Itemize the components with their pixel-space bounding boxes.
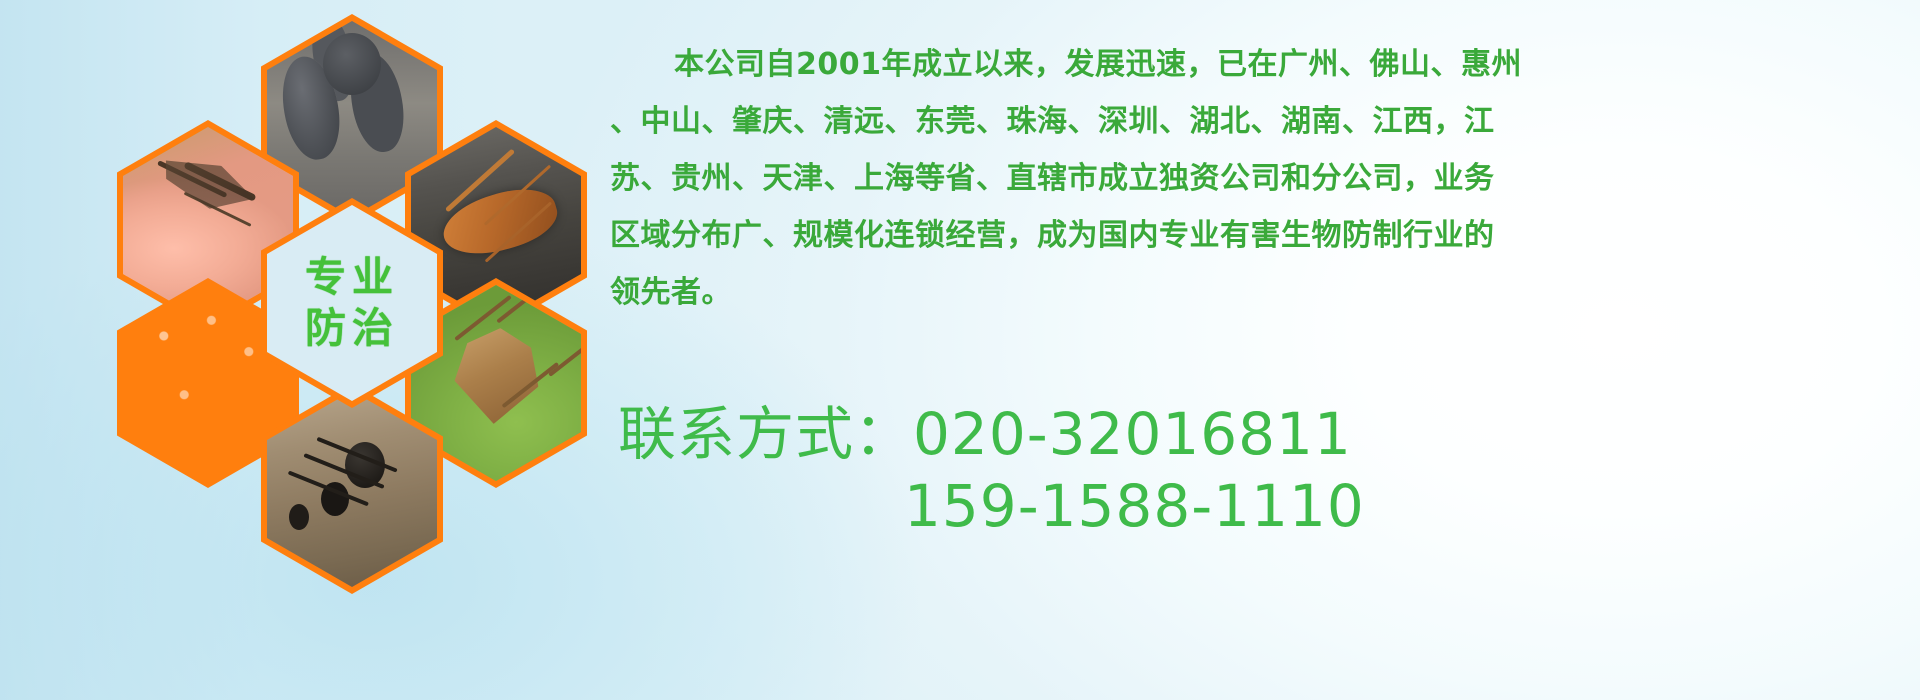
intro-line-2: 、中山、肇庆、清远、东莞、珠海、深圳、湖北、湖南、江西，江: [610, 93, 1910, 150]
contact-phone-secondary[interactable]: 159-1588-1110: [904, 472, 1365, 540]
intro-line-5: 领先者。: [610, 264, 1910, 321]
intro-line-4: 区域分布广、规模化连锁经营，成为国内专业有害生物防制行业的: [610, 207, 1910, 264]
hex-photo-collage: 专业 防治: [95, 8, 585, 568]
hex-cell-ant-frame: [267, 391, 437, 587]
slogan-line-2: 防治: [305, 303, 399, 354]
slogan-text: 专业 防治: [305, 252, 399, 355]
company-intro-paragraph: 本公司自2001年成立以来，发展迅速，已在广州、佛山、惠州 、中山、肇庆、清远、…: [610, 36, 1910, 321]
contact-label: 联系方式：: [618, 400, 913, 468]
photo-ant-icon: [267, 391, 437, 587]
slogan-line-1: 专业: [305, 252, 399, 303]
intro-line-3: 苏、贵州、天津、上海等省、直辖市成立独资公司和分公司，业务: [610, 150, 1910, 207]
promo-banner: 专业 防治 本公司自2001年成立以来，发展迅速，已在广州、佛山、惠州 、中山、…: [0, 0, 1920, 700]
intro-line-1: 本公司自2001年成立以来，发展迅速，已在广州、佛山、惠州: [610, 36, 1910, 93]
hex-cell-slogan-frame: 专业 防治: [267, 205, 437, 401]
contact-phone-primary[interactable]: 020-32016811: [913, 400, 1352, 468]
contact-block: 联系方式：020-32016811 159-1588-1110: [618, 398, 1918, 542]
contact-primary-line: 联系方式：020-32016811: [618, 398, 1918, 470]
contact-secondary-line: 159-1588-1110: [618, 470, 1918, 542]
